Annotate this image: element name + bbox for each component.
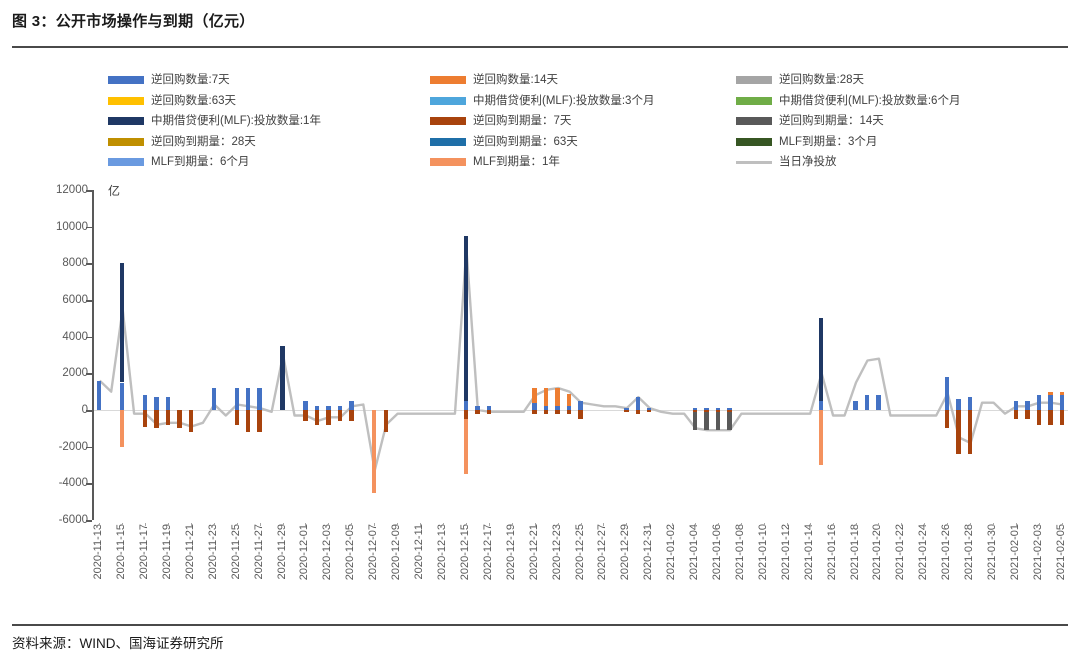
chart-bar xyxy=(968,410,972,454)
legend-item-label: 逆回购到期量：7天 xyxy=(473,115,571,127)
x-axis-tick-mark xyxy=(649,523,650,526)
x-axis-tick-mark xyxy=(993,523,994,526)
x-axis-tick-label: 2020-11-25 xyxy=(231,524,242,579)
x-axis-tick-label: 2020-12-21 xyxy=(529,524,540,580)
chart-bar xyxy=(120,383,124,411)
legend-swatch-icon xyxy=(736,161,772,164)
x-axis-tick-mark xyxy=(672,523,673,526)
chart-bar xyxy=(257,410,261,432)
legend-item[interactable]: 逆回购到期量：7天 xyxy=(430,111,740,132)
x-axis-tick-mark xyxy=(374,523,375,526)
chart-bar xyxy=(464,401,468,410)
legend-item[interactable]: 逆回购数量:14天 xyxy=(430,70,740,91)
x-axis-tick-mark xyxy=(878,523,879,526)
net-injection-line xyxy=(94,190,1068,520)
x-axis-tick-label: 2020-12-29 xyxy=(620,524,631,580)
chart-bar xyxy=(235,410,239,425)
x-axis-tick-label: 2021-01-12 xyxy=(781,524,792,580)
source-text: 资料来源：WIND、国海证券研究所 xyxy=(12,634,1068,654)
x-axis-tick-mark xyxy=(810,523,811,526)
chart-figure: 图 3：公开市场操作与到期（亿元） 逆回购数量:7天逆回购数量:63天中期借贷便… xyxy=(0,0,1080,665)
x-axis-tick-mark xyxy=(787,523,788,526)
chart-title-bar: 图 3：公开市场操作与到期（亿元） xyxy=(12,10,1068,44)
chart-bar xyxy=(945,410,949,428)
legend-swatch-icon xyxy=(736,138,772,146)
chart-bar xyxy=(315,410,319,425)
legend-item-label: 逆回购数量:28天 xyxy=(779,74,864,86)
chart-bar xyxy=(143,410,147,427)
chart-source-bar: 资料来源：WIND、国海证券研究所 xyxy=(12,634,1068,658)
legend-swatch-icon xyxy=(430,138,466,146)
y-axis-tick-label: 10000 xyxy=(56,222,88,232)
x-axis-tick-label: 2020-12-11 xyxy=(414,524,425,579)
chart-bar xyxy=(1014,410,1018,419)
x-axis-tick-mark xyxy=(237,523,238,526)
x-axis-tick-label: 2020-12-17 xyxy=(483,524,494,580)
x-axis-tick-mark xyxy=(833,523,834,526)
legend-item[interactable]: 中期借贷便利(MLF):投放数量:3个月 xyxy=(430,91,740,112)
legend-swatch-icon xyxy=(430,117,466,125)
chart-bar xyxy=(636,410,640,414)
chart-bar xyxy=(1025,410,1029,419)
chart-bar xyxy=(876,395,880,410)
chart-bar xyxy=(166,410,170,425)
x-axis-tick-mark xyxy=(558,523,559,526)
legend-item-label: 中期借贷便利(MLF):投放数量:3个月 xyxy=(473,95,654,107)
chart-bar xyxy=(693,412,697,430)
x-axis-tick-mark xyxy=(420,523,421,526)
chart-bar xyxy=(338,410,342,421)
x-axis-tick-label: 2021-01-08 xyxy=(735,524,746,580)
x-axis-tick-label: 2021-01-26 xyxy=(941,524,952,580)
y-axis-tick-label: 4000 xyxy=(62,332,88,342)
chart-bar xyxy=(303,401,307,410)
x-axis-tick-mark xyxy=(947,523,948,526)
chart-bar xyxy=(968,397,972,410)
chart-bar xyxy=(956,399,960,410)
chart-bar xyxy=(349,410,353,421)
x-axis-tick-mark xyxy=(351,523,352,526)
chart-bar xyxy=(464,236,468,401)
chart-bar xyxy=(1048,392,1052,396)
chart-bar xyxy=(945,377,949,410)
y-axis-tick-mark xyxy=(86,520,92,522)
x-axis-tick-mark xyxy=(397,523,398,526)
x-axis-labels: 2020-11-132020-11-152020-11-172020-11-19… xyxy=(94,524,1068,616)
chart-bar xyxy=(464,410,468,419)
chart-bar xyxy=(1060,410,1064,425)
chart-bar xyxy=(716,412,720,430)
chart-bar xyxy=(704,412,708,430)
x-axis-tick-label: 2021-01-30 xyxy=(987,524,998,580)
x-axis-tick-label: 2020-11-27 xyxy=(254,524,265,579)
legend-column-1: 逆回购数量:7天逆回购数量:63天中期借贷便利(MLF):投放数量:1年逆回购到… xyxy=(108,70,418,173)
legend-swatch-icon xyxy=(736,97,772,105)
x-axis-tick-mark xyxy=(603,523,604,526)
chart-bar xyxy=(464,419,468,474)
x-axis-tick-mark xyxy=(924,523,925,526)
chart-bar xyxy=(487,410,491,414)
y-axis-tick-label: -2000 xyxy=(59,442,88,452)
x-axis-tick-mark xyxy=(122,523,123,526)
legend-item[interactable]: 逆回购到期量：63天 xyxy=(430,132,740,153)
legend-item-label: 逆回购数量:14天 xyxy=(473,74,558,86)
chart-bar xyxy=(177,410,181,428)
legend-item[interactable]: 逆回购到期量：14天 xyxy=(736,111,1046,132)
chart-bar xyxy=(624,410,628,412)
x-axis-tick-label: 2020-12-19 xyxy=(506,524,517,580)
x-axis-tick-label: 2020-12-15 xyxy=(460,524,471,580)
legend-swatch-icon xyxy=(736,76,772,84)
chart-bar xyxy=(567,394,571,407)
x-axis-tick-label: 2021-02-01 xyxy=(1010,524,1021,580)
x-axis-tick-label: 2020-11-15 xyxy=(116,524,127,579)
x-axis-tick-mark xyxy=(443,523,444,526)
x-axis-tick-mark xyxy=(1039,523,1040,526)
legend-item-label: MLF到期量：3个月 xyxy=(779,136,877,148)
legend-item-label: MLF到期量：1年 xyxy=(473,156,560,168)
legend-swatch-icon xyxy=(108,158,144,166)
x-axis-tick-label: 2021-01-14 xyxy=(804,524,815,580)
legend-item-label: 逆回购到期量：14天 xyxy=(779,115,884,127)
chart-bar xyxy=(1037,410,1041,425)
x-axis-tick-label: 2020-11-21 xyxy=(185,524,196,579)
legend-swatch-icon xyxy=(108,138,144,146)
legend-item[interactable]: 逆回购数量:28天 xyxy=(736,70,1046,91)
x-axis-tick-label: 2021-01-10 xyxy=(758,524,769,580)
chart-bar xyxy=(1060,392,1064,396)
chart-bar xyxy=(544,410,548,414)
y-axis-tick-mark xyxy=(86,300,92,302)
legend-swatch-icon xyxy=(430,97,466,105)
chart-bar xyxy=(1060,395,1064,410)
x-axis-tick-label: 2021-01-06 xyxy=(712,524,723,580)
chart-bar xyxy=(154,410,158,428)
x-axis-tick-label: 2021-01-04 xyxy=(689,524,700,580)
chart-bar xyxy=(349,401,353,410)
chart-bar xyxy=(1014,401,1018,410)
x-axis-tick-label: 2020-11-23 xyxy=(208,524,219,579)
x-axis-tick-label: 2021-01-16 xyxy=(827,524,838,580)
x-axis-tick-mark xyxy=(1062,523,1063,526)
legend-item[interactable]: MLF到期量：6个月 xyxy=(108,152,418,173)
x-axis-tick-label: 2020-11-19 xyxy=(162,524,173,579)
x-axis-tick-label: 2021-01-22 xyxy=(895,524,906,580)
plot-area-wrapper: 亿 120001000080006000400020000-2000-4000-… xyxy=(0,176,1080,616)
legend-swatch-icon xyxy=(108,97,144,105)
chart-bar xyxy=(532,388,536,403)
x-axis-tick-mark xyxy=(283,523,284,526)
y-axis-tick-mark xyxy=(86,483,92,485)
y-axis-tick-label: 2000 xyxy=(62,368,88,378)
y-axis-tick-label: -6000 xyxy=(59,515,88,525)
title-divider xyxy=(12,46,1068,48)
y-axis-tick-mark xyxy=(86,227,92,229)
legend-item[interactable]: 当日净投放 xyxy=(736,152,1046,173)
x-axis-tick-mark xyxy=(764,523,765,526)
chart-bar xyxy=(555,388,559,406)
chart-bar xyxy=(1048,410,1052,425)
x-axis-tick-label: 2021-01-18 xyxy=(850,524,861,580)
chart-bar xyxy=(567,410,571,414)
x-axis-tick-label: 2020-12-27 xyxy=(597,524,608,580)
legend-column-2: 逆回购数量:14天中期借贷便利(MLF):投放数量:3个月逆回购到期量：7天逆回… xyxy=(430,70,740,173)
x-axis-tick-mark xyxy=(512,523,513,526)
legend-item[interactable]: 中期借贷便利(MLF):投放数量:1年 xyxy=(108,111,418,132)
chart-bar xyxy=(120,410,124,447)
chart-bar xyxy=(555,410,559,414)
x-axis-tick-mark xyxy=(718,523,719,526)
x-axis-tick-label: 2020-11-29 xyxy=(277,524,288,579)
y-axis-tick-mark xyxy=(86,410,92,412)
chart-legend: 逆回购数量:7天逆回购数量:63天中期借贷便利(MLF):投放数量:1年逆回购到… xyxy=(108,70,1038,174)
chart-bar xyxy=(166,397,170,410)
legend-item[interactable]: 逆回购数量:63天 xyxy=(108,91,418,112)
y-axis-tick-mark xyxy=(86,447,92,449)
chart-bar xyxy=(1037,395,1041,410)
legend-swatch-icon xyxy=(430,158,466,166)
chart-bar xyxy=(97,381,101,410)
plot-area xyxy=(94,190,1068,520)
x-axis-tick-label: 2021-02-03 xyxy=(1033,524,1044,580)
page-title: 图 3：公开市场操作与到期（亿元） xyxy=(12,10,1068,34)
chart-bar xyxy=(819,401,823,410)
chart-bar xyxy=(1025,401,1029,410)
x-axis-tick-label: 2021-01-28 xyxy=(964,524,975,580)
x-axis-tick-label: 2020-12-09 xyxy=(391,524,402,580)
chart-bar xyxy=(372,410,376,493)
legend-item[interactable]: 逆回购到期量：28天 xyxy=(108,132,418,153)
y-axis-tick-mark xyxy=(86,373,92,375)
y-axis-tick-label: 6000 xyxy=(62,295,88,305)
net-injection-polyline xyxy=(99,249,1062,471)
x-axis-tick-label: 2020-11-13 xyxy=(93,524,104,579)
x-axis-tick-mark xyxy=(191,523,192,526)
x-axis-tick-mark xyxy=(214,523,215,526)
x-axis-tick-mark xyxy=(535,523,536,526)
chart-bar xyxy=(212,388,216,410)
chart-bar xyxy=(544,388,548,406)
x-axis-tick-mark xyxy=(970,523,971,526)
x-axis-tick-mark xyxy=(1016,523,1017,526)
legend-swatch-icon xyxy=(108,76,144,84)
chart-bar xyxy=(257,388,261,410)
y-axis-labels: 120001000080006000400020000-2000-4000-60… xyxy=(40,176,88,524)
x-axis-tick-label: 2020-12-31 xyxy=(643,524,654,580)
legend-item-label: 中期借贷便利(MLF):投放数量:1年 xyxy=(151,115,321,127)
x-axis-tick-mark xyxy=(901,523,902,526)
y-axis-tick-label: -4000 xyxy=(59,478,88,488)
x-axis-tick-mark xyxy=(741,523,742,526)
chart-bar xyxy=(303,410,307,421)
x-axis-tick-mark xyxy=(99,523,100,526)
legend-item-label: 逆回购到期量：63天 xyxy=(473,136,578,148)
legend-item[interactable]: 逆回购数量:7天 xyxy=(108,70,418,91)
chart-bar xyxy=(246,410,250,432)
source-divider xyxy=(12,624,1068,626)
chart-bar xyxy=(647,410,651,412)
chart-bar xyxy=(727,412,731,430)
x-axis-tick-mark xyxy=(581,523,582,526)
chart-bar xyxy=(475,410,479,414)
x-axis-tick-mark xyxy=(260,523,261,526)
chart-bar xyxy=(120,263,124,382)
chart-bar xyxy=(280,346,284,410)
x-axis-tick-mark xyxy=(626,523,627,526)
x-axis-tick-label: 2020-12-23 xyxy=(552,524,563,580)
y-axis-tick-mark xyxy=(86,337,92,339)
x-axis-tick-label: 2020-12-01 xyxy=(299,524,310,580)
legend-item-label: MLF到期量：6个月 xyxy=(151,156,249,168)
x-axis-tick-label: 2021-01-02 xyxy=(666,524,677,580)
x-axis-tick-mark xyxy=(168,523,169,526)
y-axis-tick-label: 8000 xyxy=(62,258,88,268)
chart-bar xyxy=(578,401,582,410)
x-axis-tick-label: 2021-01-20 xyxy=(872,524,883,580)
x-axis-tick-label: 2020-12-05 xyxy=(345,524,356,580)
x-axis-tick-label: 2021-01-24 xyxy=(918,524,929,580)
x-axis-tick-mark xyxy=(856,523,857,526)
x-axis-tick-mark xyxy=(695,523,696,526)
chart-bar xyxy=(956,410,960,454)
x-axis-tick-mark xyxy=(145,523,146,526)
legend-item-label: 当日净投放 xyxy=(779,156,837,168)
legend-item-label: 中期借贷便利(MLF):投放数量:6个月 xyxy=(779,95,960,107)
x-axis-tick-mark xyxy=(305,523,306,526)
legend-item[interactable]: 中期借贷便利(MLF):投放数量:6个月 xyxy=(736,91,1046,112)
chart-bar xyxy=(532,410,536,414)
chart-bar xyxy=(532,403,536,410)
chart-bar xyxy=(819,318,823,401)
legend-item-label: 逆回购到期量：28天 xyxy=(151,136,256,148)
y-axis-tick-label: 12000 xyxy=(56,185,88,195)
chart-bar xyxy=(235,388,239,410)
y-axis-tick-mark xyxy=(86,190,92,192)
x-axis-tick-label: 2020-12-25 xyxy=(575,524,586,580)
chart-bar xyxy=(326,410,330,425)
chart-bar xyxy=(1048,395,1052,410)
legend-swatch-icon xyxy=(108,117,144,125)
legend-item-label: 逆回购数量:7天 xyxy=(151,74,230,86)
legend-swatch-icon xyxy=(430,76,466,84)
chart-bar xyxy=(154,397,158,410)
legend-item-label: 逆回购数量:63天 xyxy=(151,95,236,107)
x-axis-tick-mark xyxy=(489,523,490,526)
x-axis-tick-mark xyxy=(466,523,467,526)
x-axis-tick-label: 2021-02-05 xyxy=(1056,524,1067,580)
chart-bar xyxy=(853,401,857,410)
chart-bar xyxy=(143,395,147,410)
x-axis-tick-label: 2020-12-07 xyxy=(368,524,379,580)
chart-bar xyxy=(578,410,582,419)
legend-item[interactable]: MLF到期量：3个月 xyxy=(736,132,1046,153)
legend-swatch-icon xyxy=(736,117,772,125)
chart-bar xyxy=(819,410,823,465)
chart-bar xyxy=(384,410,388,432)
chart-bar xyxy=(189,410,193,432)
chart-bar xyxy=(246,388,250,410)
x-axis-tick-label: 2020-11-17 xyxy=(139,524,150,579)
x-axis-tick-label: 2020-12-13 xyxy=(437,524,448,580)
x-axis-tick-mark xyxy=(328,523,329,526)
x-axis-tick-label: 2020-12-03 xyxy=(322,524,333,580)
legend-column-3: 逆回购数量:28天中期借贷便利(MLF):投放数量:6个月逆回购到期量：14天M… xyxy=(736,70,1046,173)
chart-bar xyxy=(865,395,869,410)
chart-bar xyxy=(636,397,640,410)
y-axis-tick-mark xyxy=(86,263,92,265)
legend-item[interactable]: MLF到期量：1年 xyxy=(430,152,740,173)
